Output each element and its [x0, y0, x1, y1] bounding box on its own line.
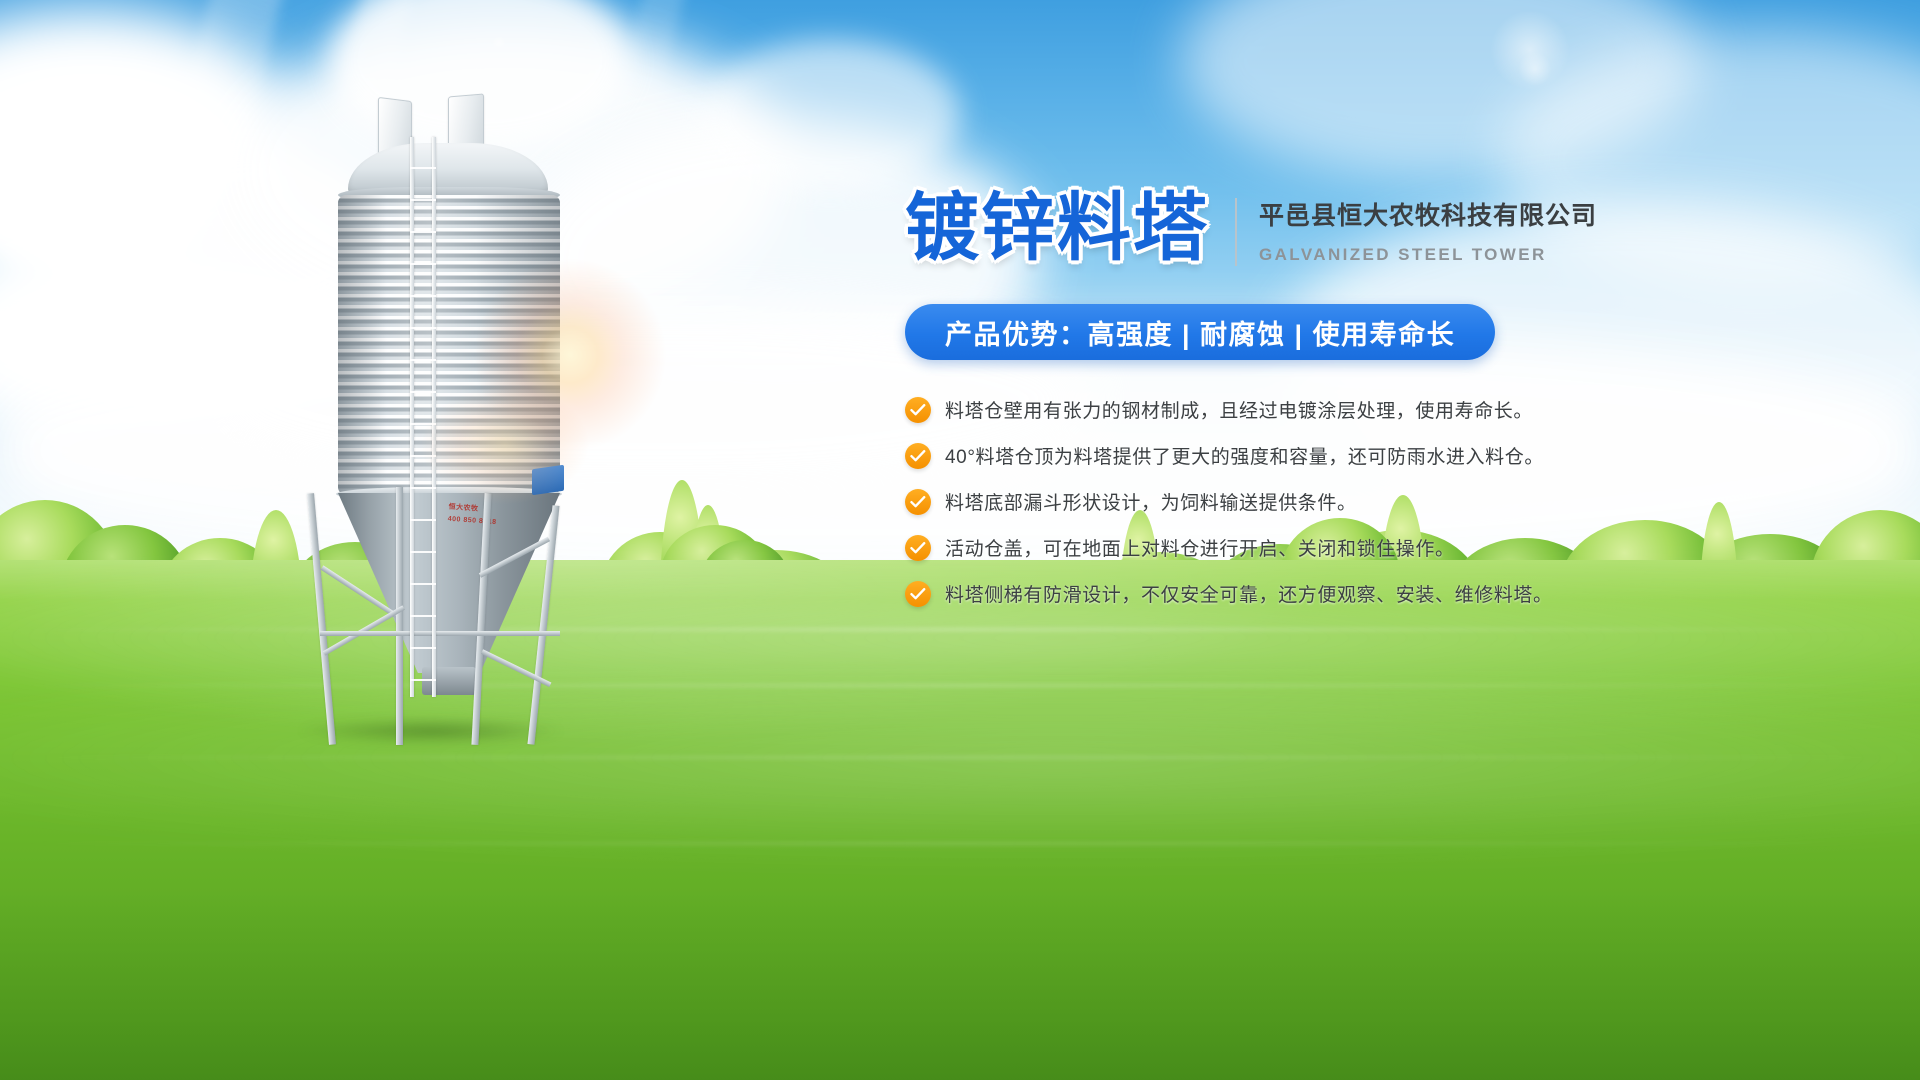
- silo-corrugated-body: [338, 195, 560, 495]
- check-circle-icon: [905, 397, 931, 423]
- check-circle-icon: [905, 443, 931, 469]
- list-item: 料塔底部漏斗形状设计，为饲料输送提供条件。: [905, 488, 1605, 515]
- feature-list: 料塔仓壁用有张力的钢材制成，且经过电镀涂层处理，使用寿命长。 40°料塔仓顶为料…: [905, 396, 1605, 607]
- feature-text: 料塔侧梯有防滑设计，不仅安全可靠，还方便观察、安装、维修料塔。: [945, 580, 1553, 607]
- feature-text: 活动仓盖，可在地面上对料仓进行开启、关闭和锁住操作。: [945, 534, 1455, 561]
- check-circle-icon: [905, 489, 931, 515]
- banner-stage: 恒大农牧400 850 8818: [0, 0, 1920, 1080]
- list-item: 40°料塔仓顶为料塔提供了更大的强度和容量，还可防雨水进入料仓。: [905, 442, 1605, 469]
- english-subtitle: GALVANIZED STEEL TOWER: [1259, 245, 1597, 265]
- list-item: 活动仓盖，可在地面上对料仓进行开启、关闭和锁住操作。: [905, 534, 1605, 561]
- feature-text: 料塔底部漏斗形状设计，为饲料输送提供条件。: [945, 488, 1357, 515]
- list-item: 料塔侧梯有防滑设计，不仅安全可靠，还方便观察、安装、维修料塔。: [905, 580, 1605, 607]
- silo-side-ladder: [410, 137, 436, 697]
- check-circle-icon: [905, 535, 931, 561]
- page-title: 镀锌料塔: [905, 188, 1209, 268]
- title-divider: [1235, 198, 1237, 266]
- product-advantage-badge: 产品优势：高强度 | 耐腐蚀 | 使用寿命长: [905, 304, 1495, 360]
- banner-text-panel: 镀锌料塔 平邑县恒大农牧科技有限公司 GALVANIZED STEEL TOWE…: [905, 188, 1605, 626]
- company-name: 平邑县恒大农牧科技有限公司: [1259, 196, 1597, 232]
- feature-text: 料塔仓壁用有张力的钢材制成，且经过电镀涂层处理，使用寿命长。: [945, 396, 1533, 423]
- check-circle-icon: [905, 581, 931, 607]
- title-side-block: 平邑县恒大农牧科技有限公司 GALVANIZED STEEL TOWER: [1259, 188, 1597, 265]
- silo-support-leg: [396, 487, 403, 745]
- product-advantage-text: 产品优势：高强度 | 耐腐蚀 | 使用寿命长: [945, 313, 1455, 352]
- lens-flare-dot-small: [1518, 52, 1552, 86]
- title-row: 镀锌料塔 平邑县恒大农牧科技有限公司 GALVANIZED STEEL TOWE…: [905, 188, 1605, 268]
- silo-support-leg: [307, 493, 336, 745]
- silo-blue-label-patch: [532, 465, 564, 495]
- feature-text: 40°料塔仓顶为料塔提供了更大的强度和容量，还可防雨水进入料仓。: [945, 442, 1544, 469]
- list-item: 料塔仓壁用有张力的钢材制成，且经过电镀涂层处理，使用寿命长。: [905, 396, 1605, 423]
- grass-field: [0, 560, 1920, 1080]
- galvanized-steel-feed-silo: 恒大农牧400 850 8818: [300, 95, 600, 745]
- lens-flare-speck: [492, 36, 506, 50]
- silo-horizontal-brace: [320, 631, 560, 636]
